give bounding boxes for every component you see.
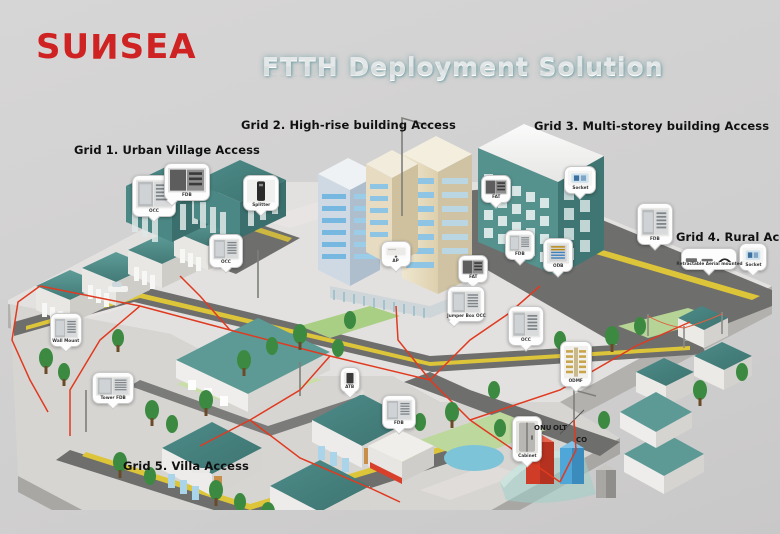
co-odb-multi[interactable]: ODB — [543, 238, 573, 272]
co-ap-ap-icon — [384, 245, 408, 259]
co-wall-mount[interactable]: Wall Mount — [50, 313, 82, 347]
co-fat-high-box-dark-icon — [461, 259, 485, 275]
co-occ-street-caption: OCC — [221, 261, 231, 266]
co-tower-fdb-caption: Tower FDB — [100, 397, 125, 402]
co-fdb-village-box-dark-icon — [167, 167, 207, 193]
logo-text-part2: SEA — [120, 30, 197, 64]
co-ap-caption: AP — [393, 260, 399, 265]
co-cabinet[interactable]: Cabinet — [512, 416, 542, 462]
co-fdb-rural-caption: FDB — [650, 238, 660, 243]
co-fdb-multi-cabinet-open-icon — [508, 234, 532, 252]
grid-2-label: Grid 2. High-rise building Access — [241, 118, 456, 132]
logo-text-n: N — [90, 28, 119, 62]
co-splitter-vil[interactable]: Splitter — [243, 175, 279, 211]
co-tower-fdb[interactable]: Tower FDB — [92, 372, 134, 404]
co-fdb-rural[interactable]: FDB — [637, 203, 673, 245]
co-occ-street[interactable]: OCC — [209, 234, 243, 268]
co-fdb-villa-cabinet-open-icon — [385, 399, 413, 421]
page-title-reflection: FTTH Deployment Solution — [262, 63, 664, 79]
co-jumper-occ[interactable]: Jumper Box OCC — [447, 286, 485, 322]
co-fat-high-caption: FAT — [469, 276, 477, 281]
co-occ-center-caption: OCC — [521, 339, 531, 344]
grid-5-label: Grid 5. Villa Access — [123, 459, 249, 473]
logo-text-part1: SU — [36, 30, 90, 64]
co-atb-villa-atb-icon — [343, 371, 357, 385]
grid-3-label: Grid 3. Multi-storey building Access — [534, 119, 769, 133]
co-fdb-multi-caption: FDB — [515, 253, 525, 258]
co-occ-village-caption: OCC — [149, 210, 159, 215]
co-tower-fdb-cabinet-open-icon — [95, 376, 131, 396]
co-wall-mount-cabinet-open-icon — [53, 317, 79, 339]
co-fat-multi-box-dark-icon — [484, 179, 508, 195]
co-fat-multi[interactable]: FAT — [481, 175, 511, 203]
co-fdb-rural-cabinet-open-icon — [640, 207, 670, 237]
co-socket-multi-caption: Socket — [572, 187, 588, 192]
co-splitter-vil-caption: Splitter — [252, 204, 270, 209]
co-atb-villa[interactable]: ATB — [340, 367, 360, 393]
co-odmf-odmf-icon — [563, 345, 589, 379]
co-jumper-occ-caption: Jumper Box OCC — [447, 315, 486, 320]
co-odmf-caption: ODMF — [569, 380, 583, 385]
co-retractable-caption: Retractable Aerial mounted — [676, 263, 742, 268]
co-fdb-villa-caption: FDB — [394, 422, 404, 427]
co-occ-center-cabinet-open-icon — [511, 310, 541, 338]
co-ap[interactable]: AP — [381, 241, 411, 267]
co-occ-center[interactable]: OCC — [508, 306, 544, 346]
co-fdb-villa[interactable]: FDB — [382, 395, 416, 429]
co-occ-street-cabinet-open-icon — [212, 238, 240, 260]
co-jumper-occ-cabinet-open-icon — [450, 290, 482, 314]
grid-4-label: Grid 4. Rural Access — [676, 230, 780, 244]
ftth-deployment-diagram: SUNSEA FTTH Deployment Solution FTTH Dep… — [0, 0, 780, 534]
co-wall-mount-caption: Wall Mount — [53, 340, 80, 345]
olt-label: OLT — [553, 424, 567, 432]
co-splitter-vil-splitter-icon — [246, 179, 276, 203]
co-fat-high[interactable]: FAT — [458, 255, 488, 283]
co-atb-villa-caption: ATB — [345, 386, 354, 391]
co-retractable[interactable]: Retractable Aerial mounted — [681, 248, 737, 270]
co-cabinet-caption: Cabinet — [518, 455, 536, 460]
co-fdb-village[interactable]: FDB — [164, 163, 210, 201]
co-label: CO — [576, 436, 587, 444]
co-fdb-village-caption: FDB — [182, 194, 192, 199]
co-odb-multi-caption: ODB — [553, 265, 563, 270]
co-socket-rural-socket-icon — [742, 247, 764, 263]
grid-1-label: Grid 1. Urban Village Access — [74, 143, 260, 157]
co-fdb-multi[interactable]: FDB — [505, 230, 535, 260]
co-socket-rural-caption: Socket — [745, 264, 761, 269]
sunsea-logo: SUNSEA — [36, 30, 197, 64]
onu-label: ONU — [534, 424, 552, 432]
co-fat-multi-caption: FAT — [492, 196, 500, 201]
co-socket-multi-socket-icon — [567, 170, 593, 186]
co-socket-multi[interactable]: Socket — [564, 166, 596, 194]
co-odb-multi-odb-icon — [546, 242, 570, 264]
co-socket-rural[interactable]: Socket — [739, 243, 767, 271]
co-odmf[interactable]: ODMF — [560, 341, 592, 387]
